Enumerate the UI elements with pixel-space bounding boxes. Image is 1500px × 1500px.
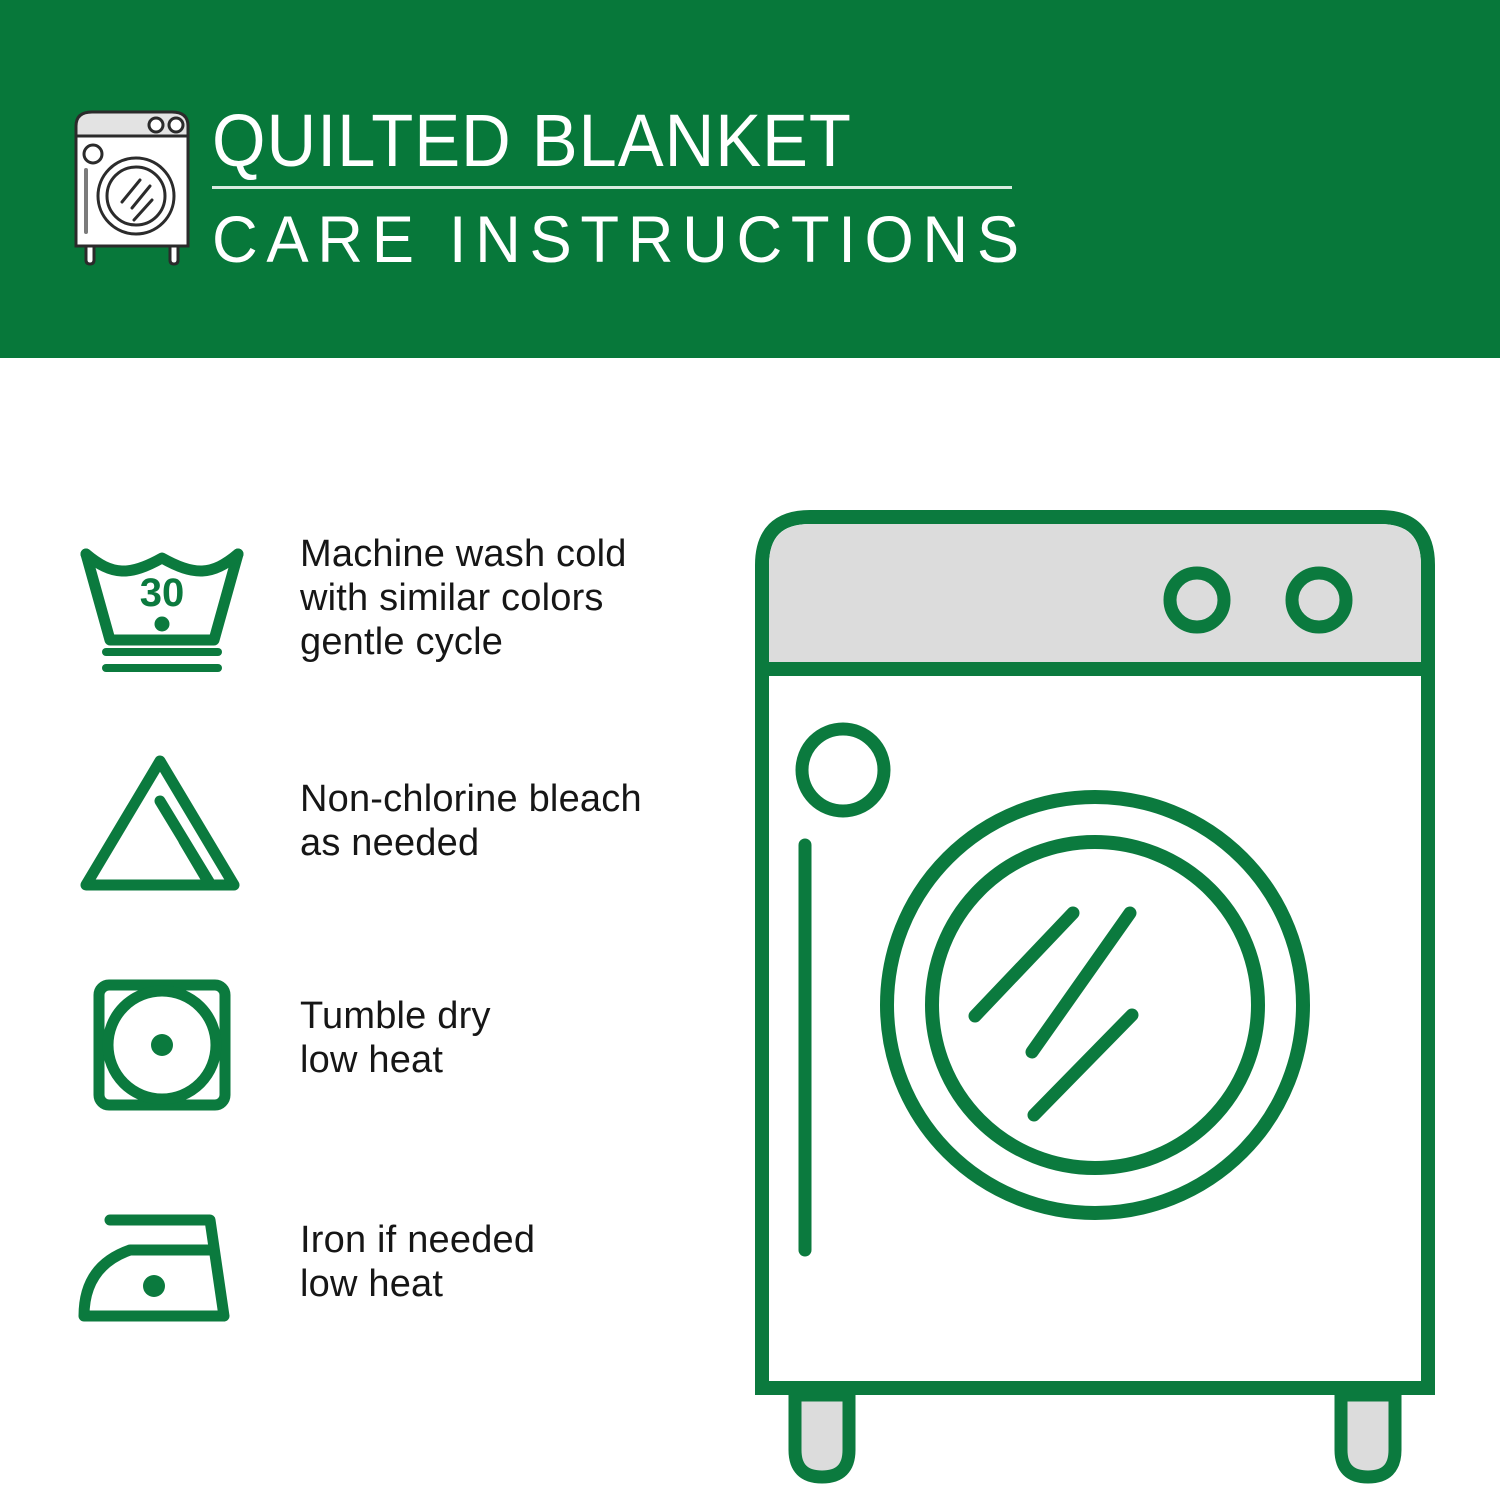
care-instructions-infographic: QUILTED BLANKET CARE INSTRUCTIONS 30: [0, 0, 1500, 1500]
tumble-dry-low-heat-icon: [72, 970, 252, 1130]
wash-tub-30-gentle-icon: 30: [72, 528, 252, 688]
header-band: QUILTED BLANKET CARE INSTRUCTIONS: [0, 0, 1500, 358]
washing-machine-icon: [62, 104, 202, 264]
non-chlorine-bleach-triangle-icon: [72, 747, 252, 907]
iron-low-heat-icon: [72, 1198, 252, 1358]
page-title: QUILTED BLANKET: [212, 100, 965, 182]
foot-right: [1341, 1395, 1395, 1477]
header-text-group: QUILTED BLANKET CARE INSTRUCTIONS: [212, 100, 1022, 275]
care-text-bleach: Non-chlorine bleach as needed: [300, 777, 642, 865]
foot-left: [795, 1395, 849, 1477]
wash-temperature-value: 30: [140, 571, 185, 615]
care-text-wash: Machine wash cold with similar colors ge…: [300, 532, 627, 664]
care-text-iron: Iron if needed low heat: [300, 1218, 535, 1306]
title-divider: [212, 186, 1012, 189]
page-subtitle: CARE INSTRUCTIONS: [212, 203, 990, 275]
care-text-dry: Tumble dry low heat: [300, 994, 491, 1082]
front-load-washing-machine-illustration: [740, 495, 1450, 1415]
